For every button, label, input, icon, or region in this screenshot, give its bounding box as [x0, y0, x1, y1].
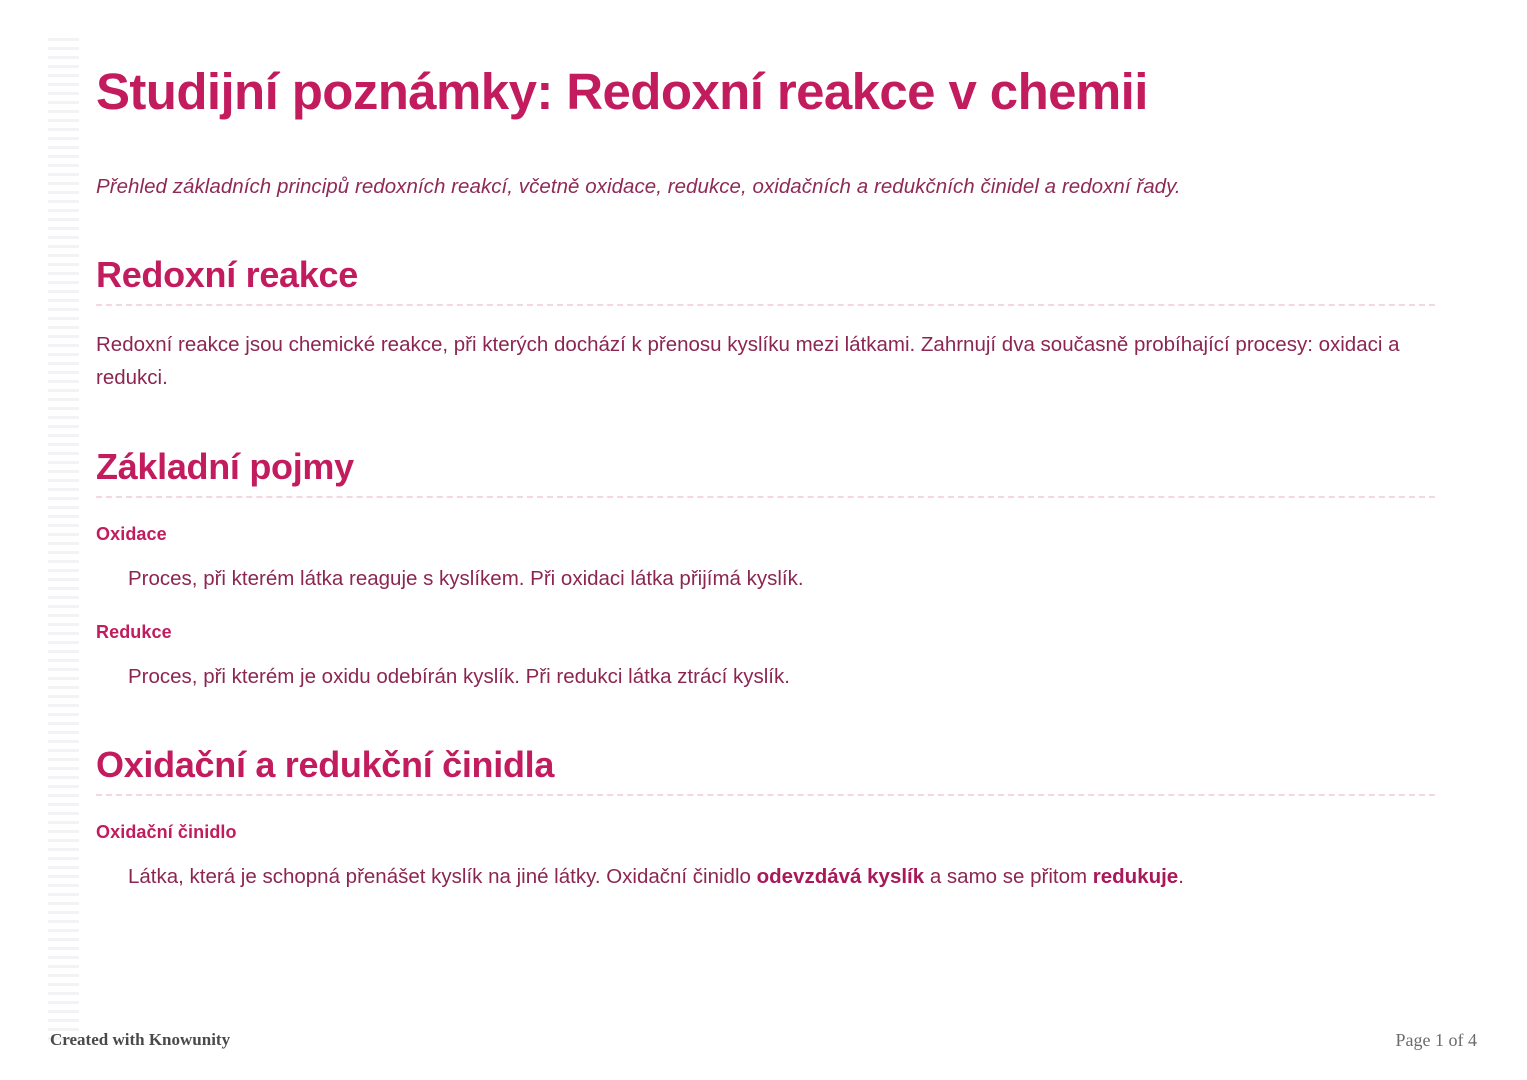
document-subtitle: Přehled základních principů redoxních re…: [96, 122, 1436, 203]
document-content: Studijní poznámky: Redoxní reakce v chem…: [96, 0, 1436, 894]
section-heading: Oxidační a redukční činidla: [96, 693, 1436, 786]
term-definition: Proces, při kterém látka reaguje s kyslí…: [96, 545, 1436, 596]
term-definition: Látka, která je schopná přenášet kyslík …: [96, 843, 1436, 894]
section-redoxni-reakce: Redoxní reakce Redoxní reakce jsou chemi…: [96, 203, 1436, 395]
ruled-margin-decoration: [48, 38, 79, 1040]
document-page: Studijní poznámky: Redoxní reakce v chem…: [0, 0, 1527, 1080]
section-heading: Základní pojmy: [96, 395, 1436, 488]
footer-credit: Created with Knowunity: [50, 1030, 230, 1050]
page-footer: Created with Knowunity Page 1 of 4: [0, 1022, 1527, 1080]
page-title: Studijní poznámky: Redoxní reakce v chem…: [96, 0, 1436, 122]
term-label: Oxidace: [96, 498, 1436, 545]
page-number: Page 1 of 4: [1396, 1030, 1477, 1051]
term-definition: Proces, při kterém je oxidu odebírán kys…: [96, 643, 1436, 694]
term-label: Oxidační činidlo: [96, 796, 1436, 843]
term-label: Redukce: [96, 596, 1436, 643]
section-zakladni-pojmy: Základní pojmy Oxidace Proces, při které…: [96, 395, 1436, 694]
section-oxidacni-redukcni-cinidla: Oxidační a redukční činidla Oxidační čin…: [96, 693, 1436, 894]
section-heading: Redoxní reakce: [96, 203, 1436, 296]
section-paragraph: Redoxní reakce jsou chemické reakce, při…: [96, 306, 1436, 394]
